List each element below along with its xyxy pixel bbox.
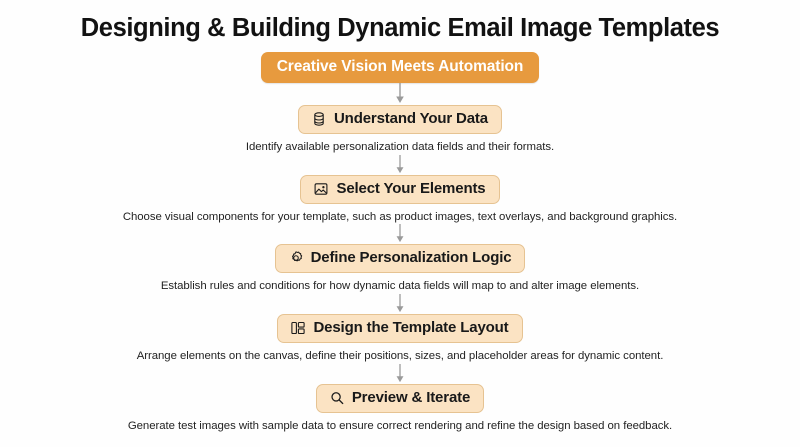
step-node-define-personalization-logic[interactable]: Define Personalization Logic — [275, 244, 526, 273]
page-title: Designing & Building Dynamic Email Image… — [81, 14, 719, 42]
flowchart-step: Define Personalization Logic Establish r… — [0, 244, 800, 294]
connector-arrow — [393, 83, 407, 105]
step-node-select-your-elements[interactable]: Select Your Elements — [300, 175, 499, 204]
flowchart-header-node: Creative Vision Meets Automation — [261, 52, 540, 83]
flowchart-step: Select Your Elements Choose visual compo… — [0, 175, 800, 225]
step-label: Design the Template Layout — [313, 319, 508, 337]
gear-icon — [288, 250, 304, 266]
database-icon — [311, 111, 327, 127]
flowchart: Creative Vision Meets Automation Underst… — [0, 52, 800, 433]
step-caption: Establish rules and conditions for how d… — [161, 280, 639, 294]
connector-arrow — [393, 294, 407, 314]
step-node-design-the-template-layout[interactable]: Design the Template Layout — [277, 314, 522, 343]
connector-arrow — [393, 224, 407, 244]
step-node-preview-and-iterate[interactable]: Preview & Iterate — [316, 384, 484, 413]
step-label: Preview & Iterate — [352, 389, 470, 407]
step-caption: Identify available personalization data … — [246, 141, 554, 155]
step-label: Define Personalization Logic — [311, 249, 512, 267]
step-label: Select Your Elements — [336, 180, 485, 198]
step-node-understand-your-data[interactable]: Understand Your Data — [298, 105, 502, 134]
flowchart-step: Understand Your Data Identify available … — [0, 105, 800, 155]
flowchart-page: Designing & Building Dynamic Email Image… — [0, 0, 800, 447]
step-caption: Generate test images with sample data to… — [128, 420, 672, 434]
connector-arrow — [393, 364, 407, 384]
connector-arrow — [393, 155, 407, 175]
step-label: Understand Your Data — [334, 110, 488, 128]
step-caption: Choose visual components for your templa… — [123, 211, 677, 225]
flowchart-step: Design the Template Layout Arrange eleme… — [0, 314, 800, 364]
search-icon — [329, 390, 345, 406]
step-caption: Arrange elements on the canvas, define t… — [137, 350, 664, 364]
image-icon — [313, 181, 329, 197]
flowchart-step: Preview & Iterate Generate test images w… — [0, 384, 800, 434]
layout-icon — [290, 320, 306, 336]
